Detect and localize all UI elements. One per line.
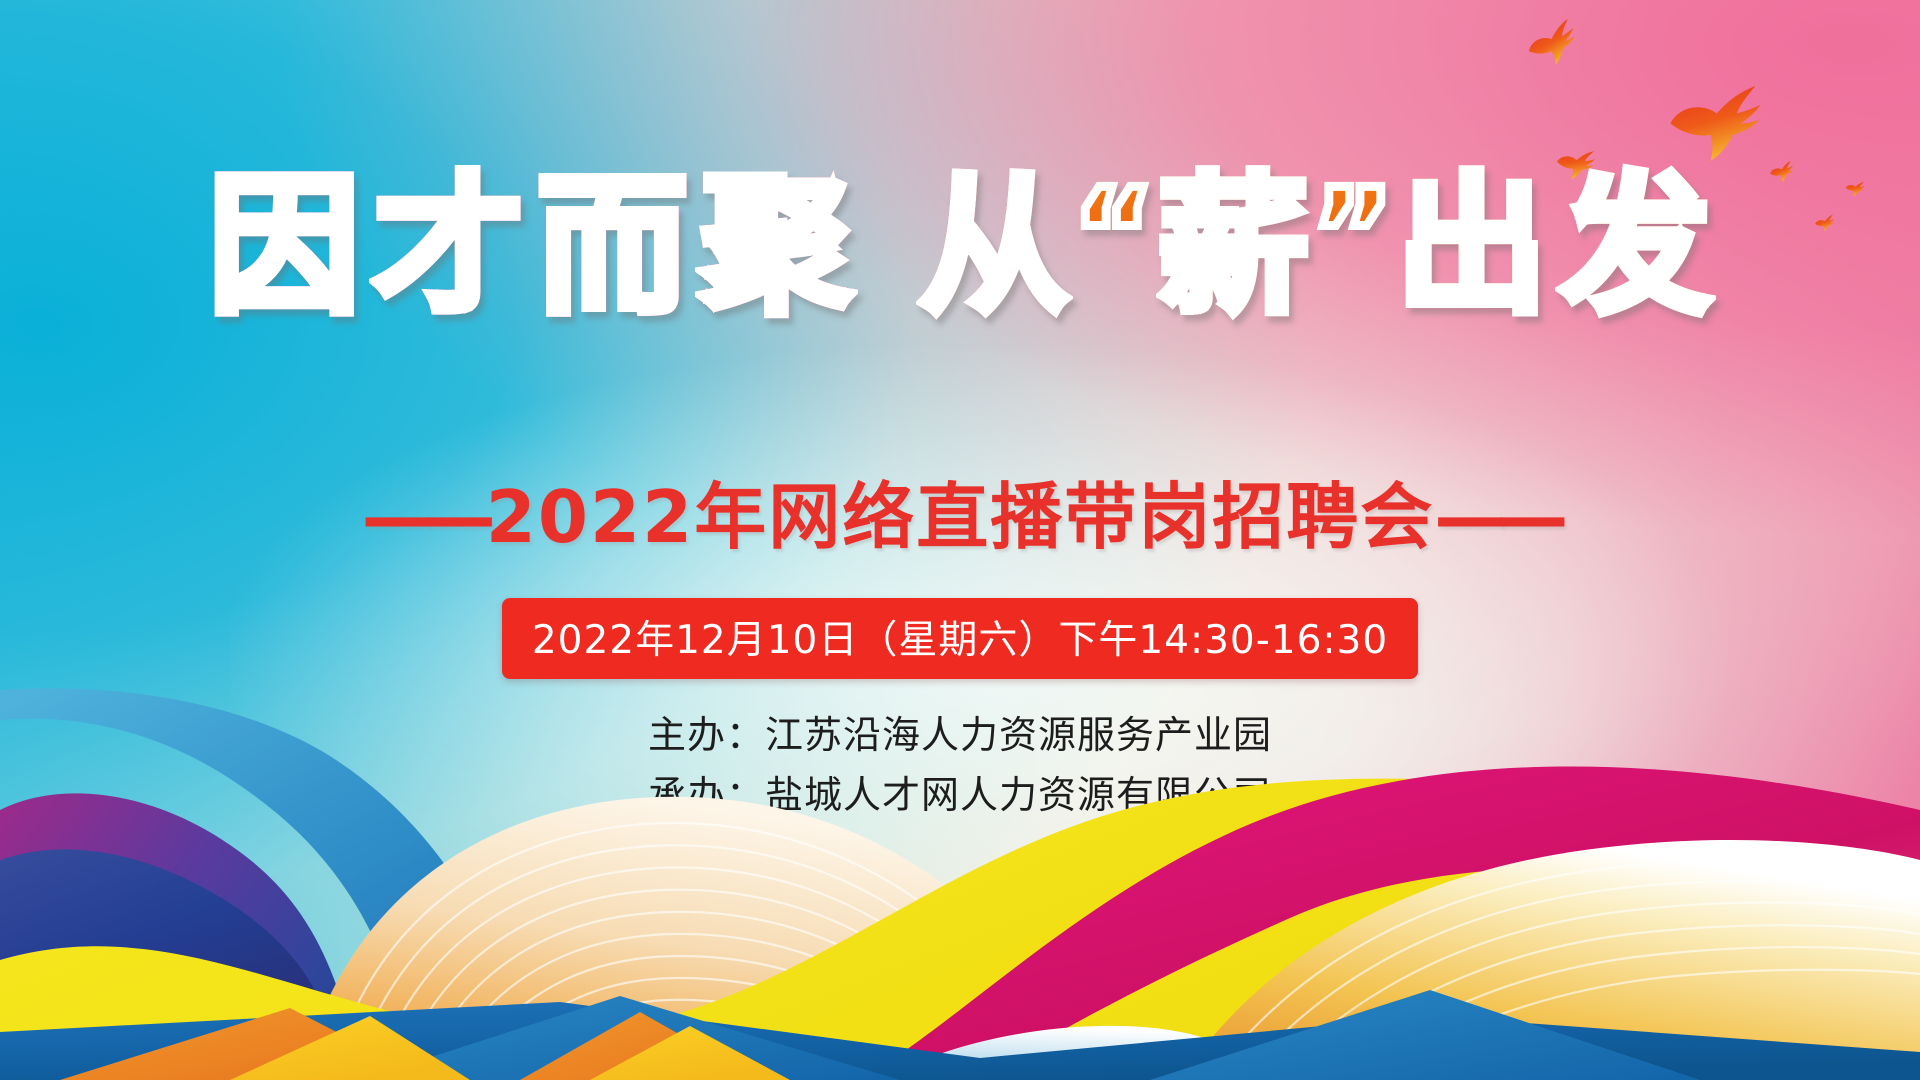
headline-char: 发 — [1561, 168, 1711, 327]
subtitle-text: 2022年网络直播带岗招聘会 — [486, 475, 1434, 559]
subtitle: ——2022年网络直播带岗招聘会—— — [0, 458, 1920, 563]
headline-char: 从 — [919, 168, 1069, 327]
subtitle-rule-right: —— — [1434, 475, 1558, 559]
headline-char: 薪 — [1158, 168, 1308, 327]
headline-char: 聚 — [701, 168, 851, 327]
bird-icon — [1523, 18, 1581, 71]
headline-quote-open: “ — [1072, 168, 1155, 302]
bottom-decoration-art — [0, 660, 1920, 1080]
subtitle-rule-left: —— — [362, 475, 486, 559]
headline-char: 因 — [209, 168, 359, 327]
headline-char: 而 — [537, 168, 687, 327]
headline-quote-close: ” — [1311, 168, 1394, 302]
headline: 因才而聚从“薪”出发 — [0, 168, 1920, 327]
headline-char: 才 — [373, 168, 523, 327]
poster-banner: 因才而聚从“薪”出发 ——2022年网络直播带岗招聘会—— 2022年12月10… — [0, 0, 1920, 1080]
bird-icon — [1671, 86, 1761, 161]
headline-char: 出 — [1397, 168, 1547, 327]
